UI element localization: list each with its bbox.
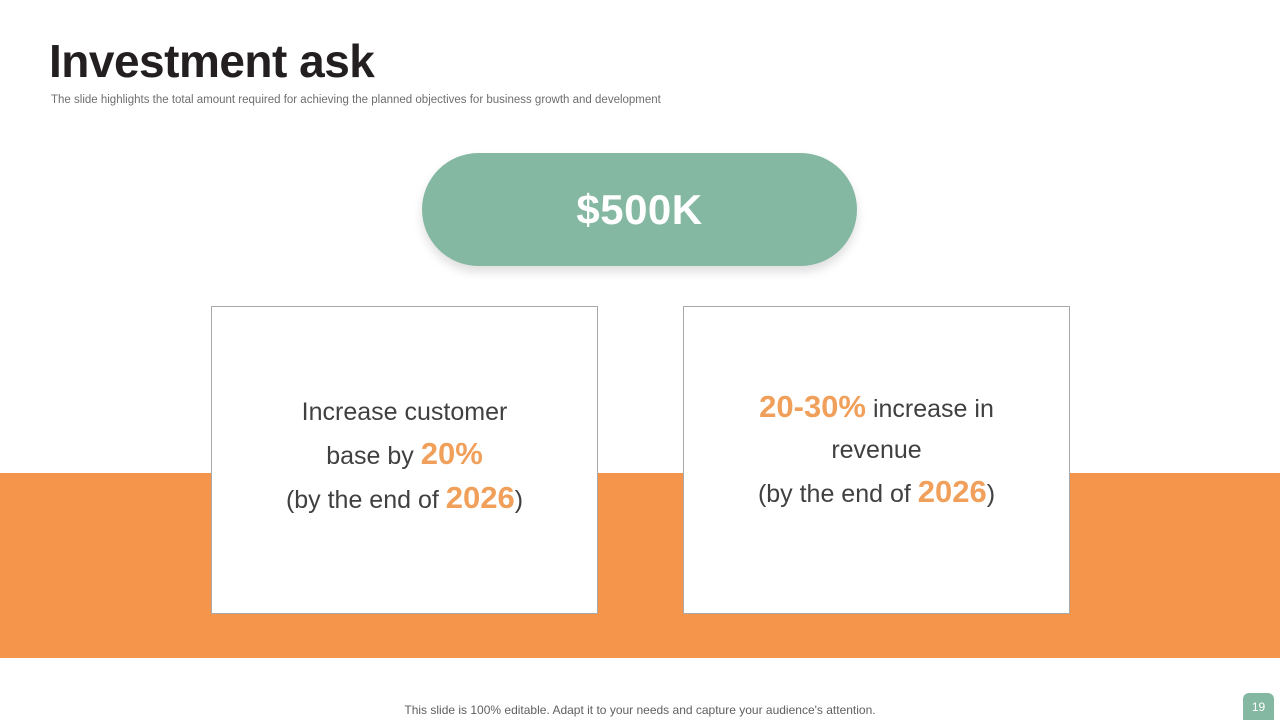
page-subtitle: The slide highlights the total amount re… <box>51 92 949 108</box>
orange-background-band <box>0 473 1280 658</box>
page-number-badge: 19 <box>1243 693 1274 720</box>
page-title: Investment ask <box>49 34 949 88</box>
objective-card-revenue[interactable]: 20-30% increase in revenue (by the end o… <box>683 306 1070 614</box>
objective-card-customer-base[interactable]: Increase customer base by 20% (by the en… <box>211 306 598 614</box>
customer-base-line3-prefix: (by the end of <box>286 486 446 514</box>
revenue-line2: revenue <box>831 436 921 464</box>
revenue-year: 2026 <box>918 474 987 509</box>
customer-base-line3-suffix: ) <box>515 486 523 514</box>
slide-canvas: Investment ask The slide highlights the … <box>0 0 1280 720</box>
investment-amount-label: $500K <box>576 186 702 234</box>
customer-base-year: 2026 <box>446 480 515 515</box>
customer-base-line1: Increase customer <box>302 398 508 426</box>
revenue-line3-suffix: ) <box>987 480 995 508</box>
objective-card-customer-base-text: Increase customer base by 20% (by the en… <box>268 392 541 521</box>
customer-base-percent: 20% <box>421 436 483 471</box>
page-number-label: 19 <box>1252 700 1265 714</box>
investment-amount-pill[interactable]: $500K <box>422 153 857 266</box>
revenue-line1-suffix: increase in <box>866 395 994 423</box>
revenue-line3-prefix: (by the end of <box>758 480 918 508</box>
footer-note: This slide is 100% editable. Adapt it to… <box>0 703 1280 717</box>
customer-base-line2-prefix: base by <box>326 442 421 470</box>
revenue-percent: 20-30% <box>759 389 866 424</box>
slide-header: Investment ask The slide highlights the … <box>49 34 949 108</box>
objective-card-revenue-text: 20-30% increase in revenue (by the end o… <box>740 386 1013 515</box>
